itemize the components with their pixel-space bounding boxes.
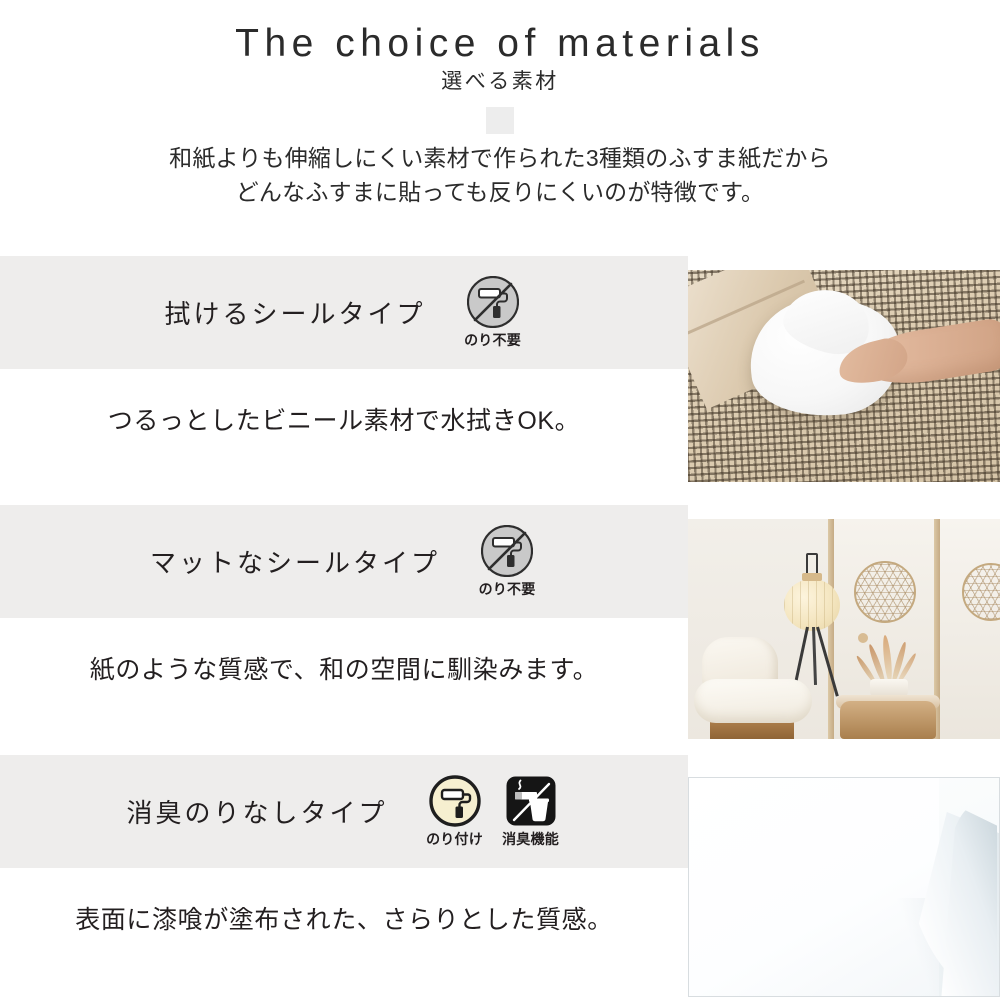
material-section-2: マットなシールタイプ のり不要 紙のような質感で、和の空間に馴染みます。	[0, 505, 1000, 745]
section-2-header-content: マットなシールタイプ のり不要	[0, 505, 688, 618]
section-1-badge-group: のり不要	[462, 276, 524, 350]
intro-line-2: どんなふすまに貼っても反りにくいのが特徴です。	[0, 175, 1000, 209]
deodorizing-trash-icon	[505, 775, 557, 827]
no-glue-roller-icon	[467, 276, 519, 328]
section-3-header-content: 消臭のりなしタイプ のり付け	[0, 755, 688, 868]
section-2-badge-group: のり不要	[476, 525, 538, 599]
badge-no-glue-label: のり不要	[464, 330, 521, 350]
page-header: The choice of materials 選べる素材 和紙よりも伸縮しにく…	[0, 0, 1000, 256]
badge-no-glue: のり不要	[476, 525, 538, 599]
wood-stool-body	[840, 701, 936, 739]
fusuma-panel-2	[940, 519, 1000, 739]
lamp-wire-frame	[806, 553, 818, 575]
paper-lantern-ribs	[784, 579, 840, 631]
glue-roller-icon	[429, 775, 481, 827]
section-1-title: 拭けるシールタイプ	[164, 294, 425, 331]
page-title-english: The choice of materials	[0, 21, 1000, 67]
badge-no-glue: のり不要	[462, 276, 524, 350]
photo-white-curled-paper-sheet	[688, 777, 1000, 997]
intro-paragraph: 和紙よりも伸縮しにくい素材で作られた3種類のふすま紙だから どんなふすまに貼って…	[0, 141, 1000, 209]
intro-line-1: 和紙よりも伸縮しにくい素材で作られた3種類のふすま紙だから	[0, 141, 1000, 175]
section-2-title: マットなシールタイプ	[150, 543, 440, 580]
paper-lantern-cap	[802, 573, 822, 581]
material-section-1: 拭けるシールタイプ のり不要 つるっとしたビニール素材で水拭きOK。	[0, 256, 1000, 496]
badge-no-glue-label: のり不要	[479, 579, 536, 599]
page-root: The choice of materials 選べる素材 和紙よりも伸縮しにく…	[0, 0, 1000, 1000]
section-1-caption: つるっとしたビニール素材で水拭きOK。	[0, 369, 688, 469]
section-1-header-content: 拭けるシールタイプ のり不要	[0, 256, 688, 369]
photo-wiping-mat-with-towel	[688, 270, 1000, 482]
photo-japanese-interior-room	[688, 519, 1000, 739]
section-3-title: 消臭のりなしタイプ	[126, 793, 387, 830]
boucle-chair-seat	[694, 679, 812, 723]
no-glue-roller-icon	[481, 525, 533, 577]
door-knob	[858, 633, 868, 643]
decorative-square-divider	[486, 107, 514, 134]
lattice-circle-1	[854, 561, 916, 623]
badge-deodorizing-label: 消臭機能	[502, 829, 559, 849]
section-2-caption: 紙のような質感で、和の空間に馴染みます。	[0, 618, 688, 718]
section-3-caption: 表面に漆喰が塗布された、さらりとした質感。	[0, 868, 688, 968]
material-section-3: 消臭のりなしタイプ のり付け	[0, 755, 1000, 1000]
page-title-japanese: 選べる素材	[0, 68, 1000, 96]
badge-glue-required: のり付け	[424, 775, 486, 849]
section-3-badge-group: のり付け 消臭機能	[424, 775, 562, 849]
badge-deodorizing: 消臭機能	[500, 775, 562, 849]
badge-glue-required-label: のり付け	[426, 829, 483, 849]
